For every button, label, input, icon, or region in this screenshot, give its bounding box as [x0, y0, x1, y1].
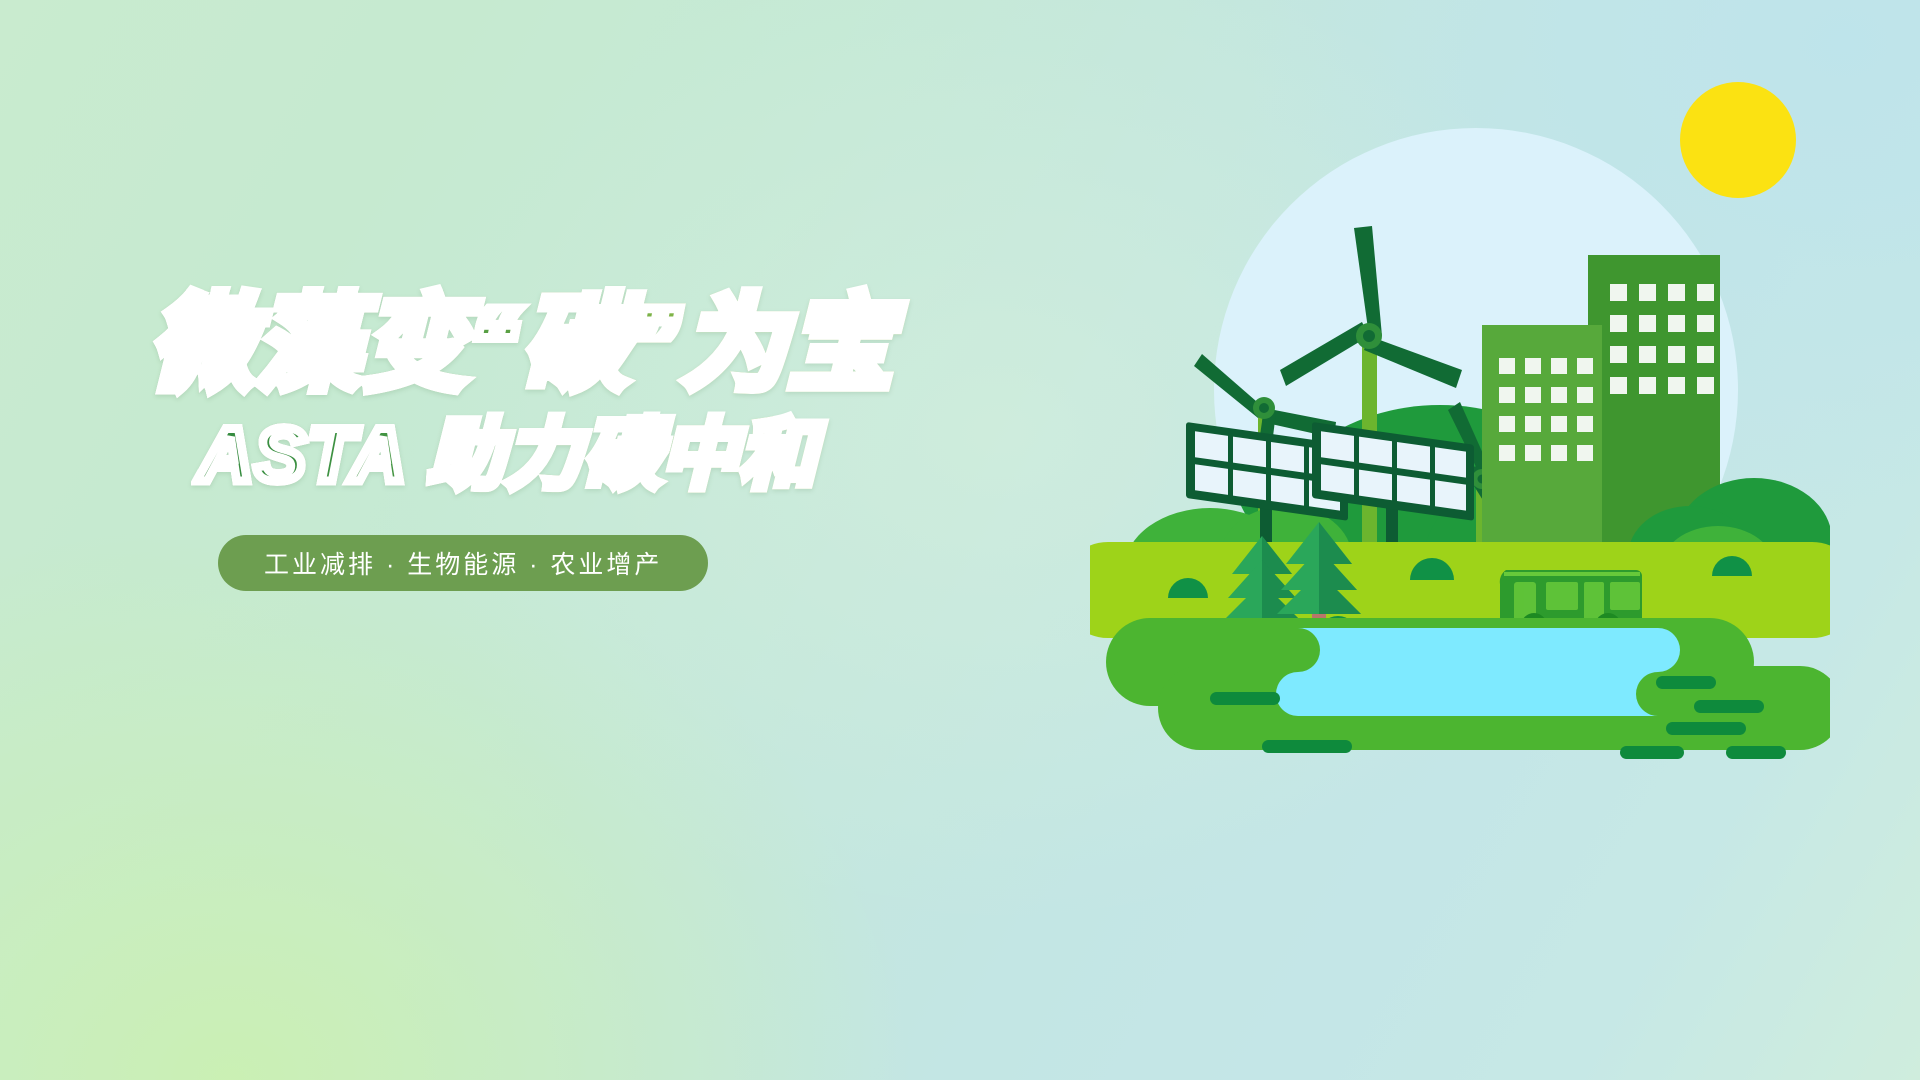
- headline-block: 微藻变“碳”为宝 ASTA 助力碳中和 工业减排 · 生物能源 · 农业增产: [150, 290, 950, 591]
- eco-city-illustration: [1090, 70, 1830, 790]
- page-subtitle: ASTA 助力碳中和: [198, 416, 950, 497]
- sun-icon: [1680, 82, 1796, 198]
- page-title: 微藻变“碳”为宝: [150, 290, 950, 400]
- tagline-badge: 工业减排 · 生物能源 · 农业增产: [218, 535, 708, 591]
- building-short: [1482, 325, 1602, 555]
- lake: [1276, 628, 1680, 716]
